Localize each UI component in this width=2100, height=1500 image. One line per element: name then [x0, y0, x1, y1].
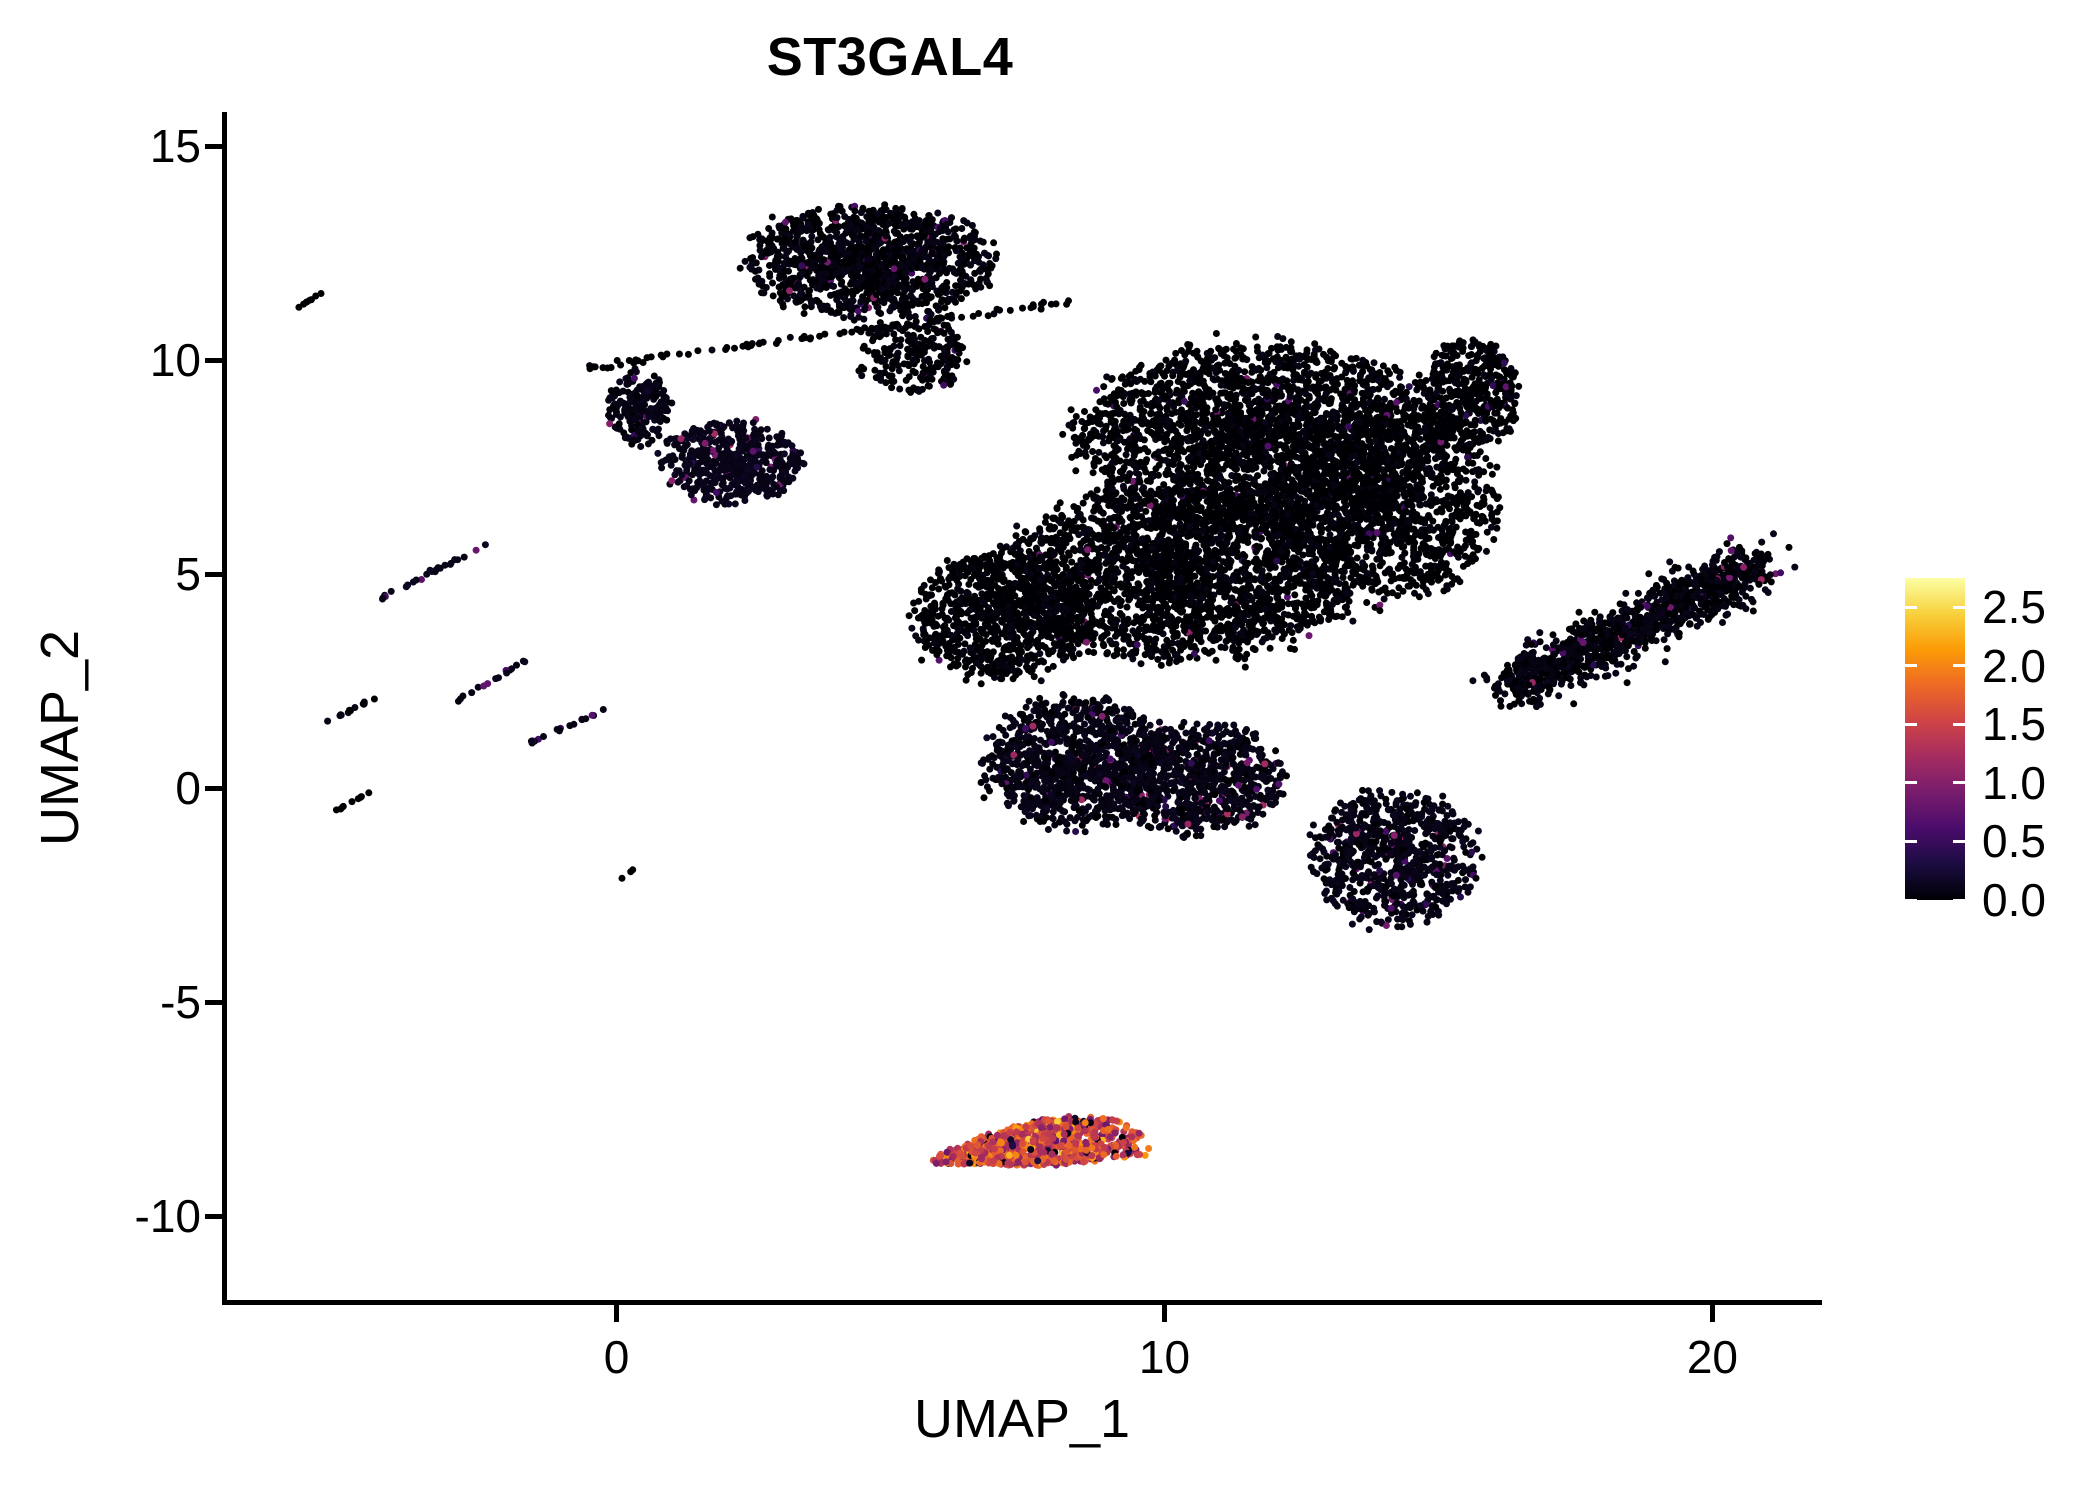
colorbar-tick-mark [1953, 664, 1965, 667]
colorbar-tick-label: 1.5 [1982, 697, 2046, 751]
x-tick-label: 20 [1687, 1330, 1738, 1384]
y-axis-title: UMAP_2 [29, 143, 91, 1333]
scatter-svg [222, 112, 1822, 1302]
umap-feature-plot: ST3GAL4 151050-5-10 01020 UMAP_1 UMAP_2 … [0, 0, 2100, 1500]
colorbar-tick-mark [1953, 899, 1965, 902]
y-tick-label: 10 [150, 333, 201, 387]
y-axis-line [222, 112, 227, 1302]
y-tick-mark [205, 786, 222, 791]
colorbar-tick-mark [1953, 781, 1965, 784]
y-tick-label: 5 [175, 547, 201, 601]
colorbar-tick-mark [1953, 840, 1965, 843]
x-tick-mark [1710, 1305, 1715, 1322]
colorbar-tick-label: 2.5 [1982, 580, 2046, 634]
x-tick-label: 0 [604, 1330, 630, 1384]
color-legend: 2.52.01.51.00.50.0 [1900, 575, 2100, 905]
y-tick-mark [205, 572, 222, 577]
colorbar-tick-mark [1905, 606, 1917, 609]
colorbar-tick-mark [1953, 723, 1965, 726]
colorbar-tick-label: 1.0 [1982, 756, 2046, 810]
x-axis-title: UMAP_1 [222, 1388, 1822, 1450]
y-tick-mark [205, 144, 222, 149]
colorbar-tick-label: 0.0 [1982, 873, 2046, 927]
scatter-points-layer [222, 112, 1822, 1302]
colorbar-tick-mark [1905, 840, 1917, 843]
x-tick-mark [614, 1305, 619, 1322]
x-axis-line [222, 1300, 1822, 1305]
colorbar-tick-label: 0.5 [1982, 814, 2046, 868]
colorbar-gradient [1905, 578, 1965, 900]
y-tick-label: 0 [175, 761, 201, 815]
plot-panel: 151050-5-10 01020 [222, 112, 1822, 1302]
colorbar [1905, 578, 1965, 900]
y-tick-label: -10 [135, 1189, 201, 1243]
colorbar-tick-mark [1905, 723, 1917, 726]
colorbar-tick-mark [1953, 606, 1965, 609]
y-tick-mark [205, 1214, 222, 1219]
colorbar-tick-mark [1905, 781, 1917, 784]
x-tick-label: 10 [1139, 1330, 1190, 1384]
y-tick-label: -5 [160, 975, 201, 1029]
page-title: ST3GAL4 [0, 26, 1780, 88]
y-tick-mark [205, 358, 222, 363]
y-tick-label: 15 [150, 119, 201, 173]
colorbar-tick-label: 2.0 [1982, 639, 2046, 693]
colorbar-tick-mark [1905, 664, 1917, 667]
colorbar-tick-mark [1905, 899, 1917, 902]
y-tick-mark [205, 1000, 222, 1005]
x-tick-mark [1162, 1305, 1167, 1322]
